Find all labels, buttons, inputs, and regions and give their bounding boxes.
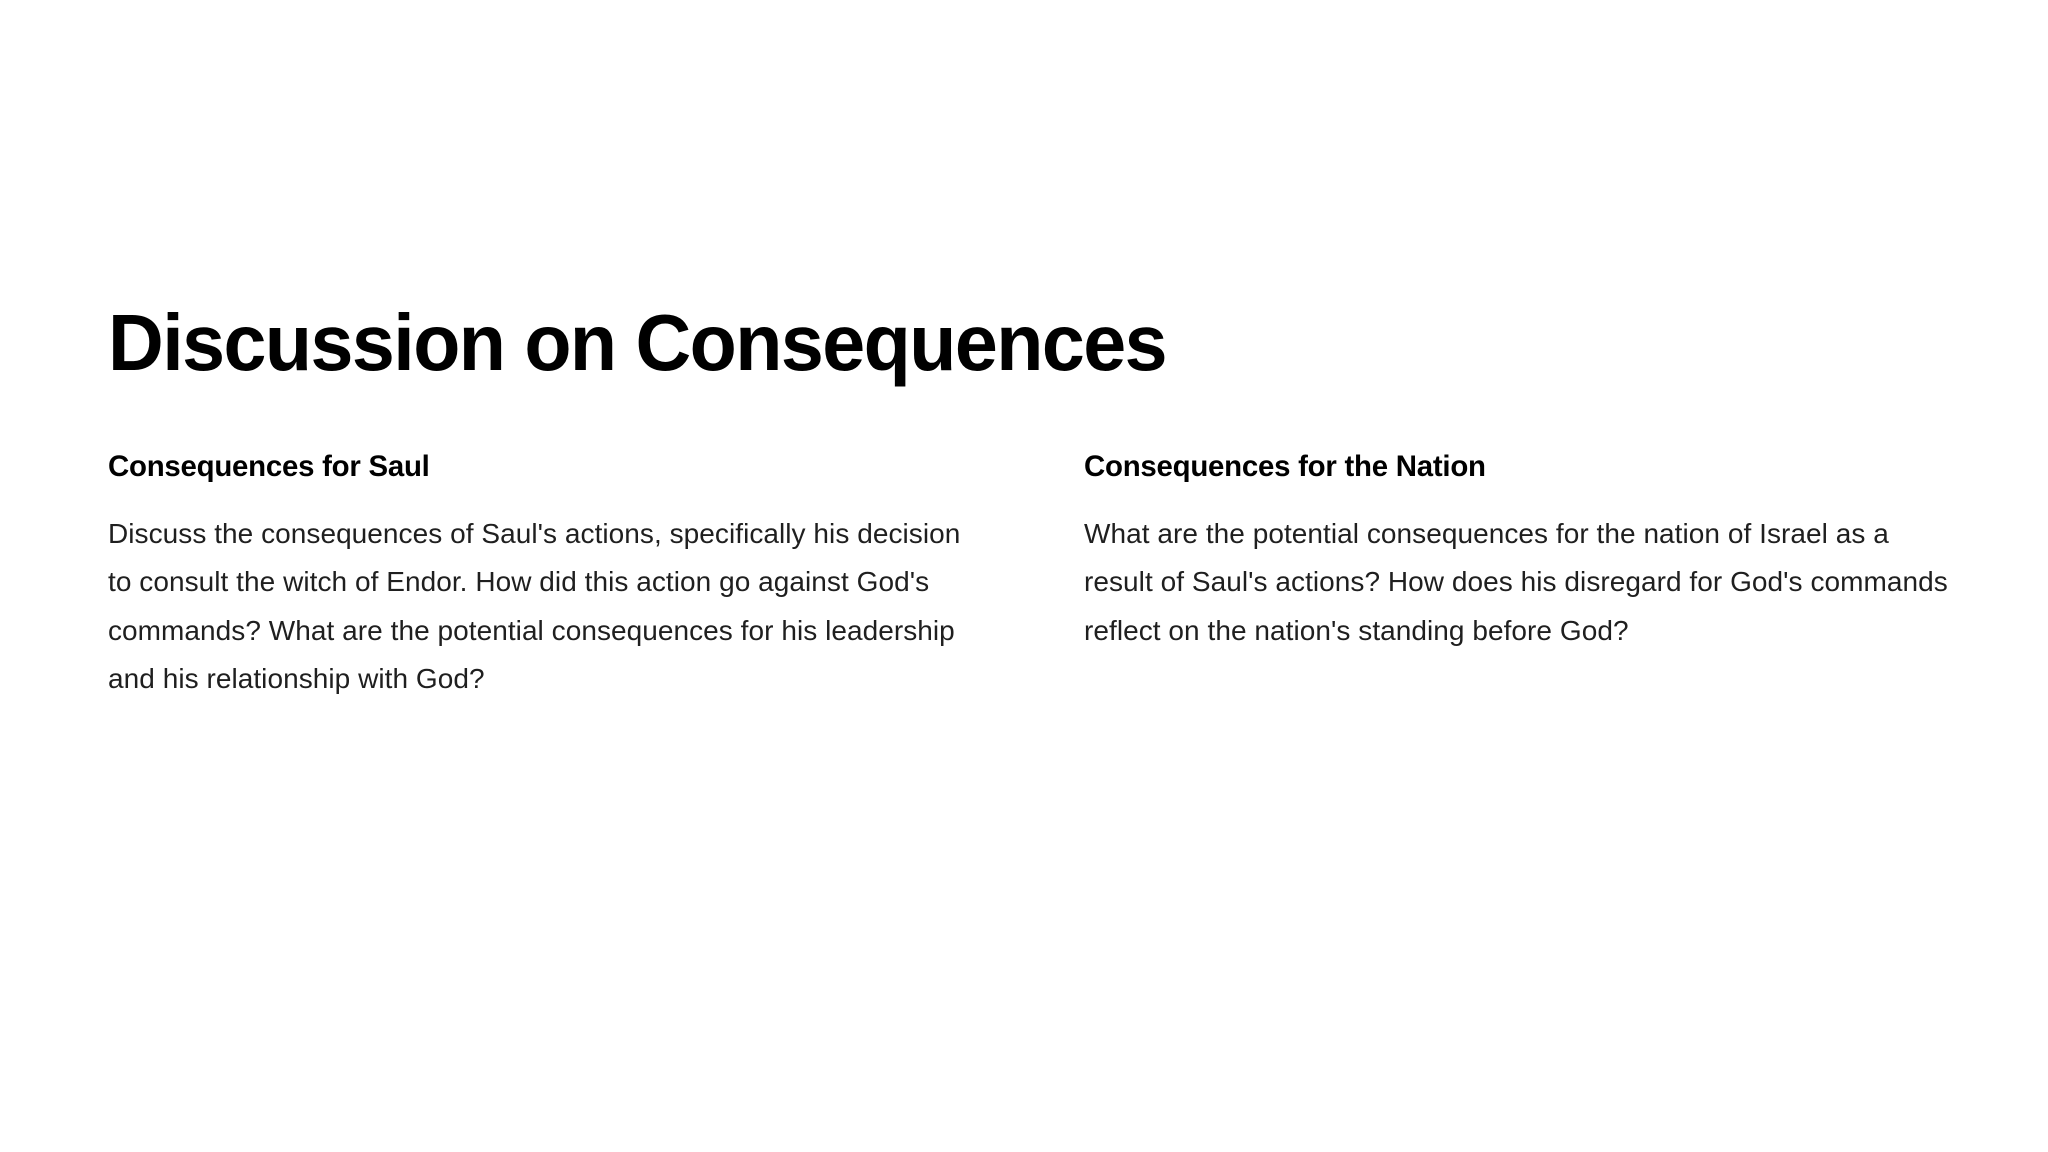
- slide-canvas: Discussion on Consequences Consequences …: [0, 0, 2048, 1152]
- two-column-layout: Consequences for Saul Discuss the conseq…: [108, 448, 1964, 704]
- page-title: Discussion on Consequences: [108, 300, 1884, 386]
- column-heading-saul: Consequences for Saul: [108, 448, 970, 486]
- column-consequences-for-saul: Consequences for Saul Discuss the conseq…: [108, 448, 988, 704]
- column-consequences-for-the-nation: Consequences for the Nation What are the…: [1084, 448, 1964, 655]
- slide-content: Discussion on Consequences Consequences …: [108, 300, 1948, 704]
- column-heading-nation: Consequences for the Nation: [1084, 448, 1946, 486]
- column-body-nation: What are the potential consequences for …: [1084, 510, 1964, 656]
- column-body-saul: Discuss the consequences of Saul's actio…: [108, 510, 988, 704]
